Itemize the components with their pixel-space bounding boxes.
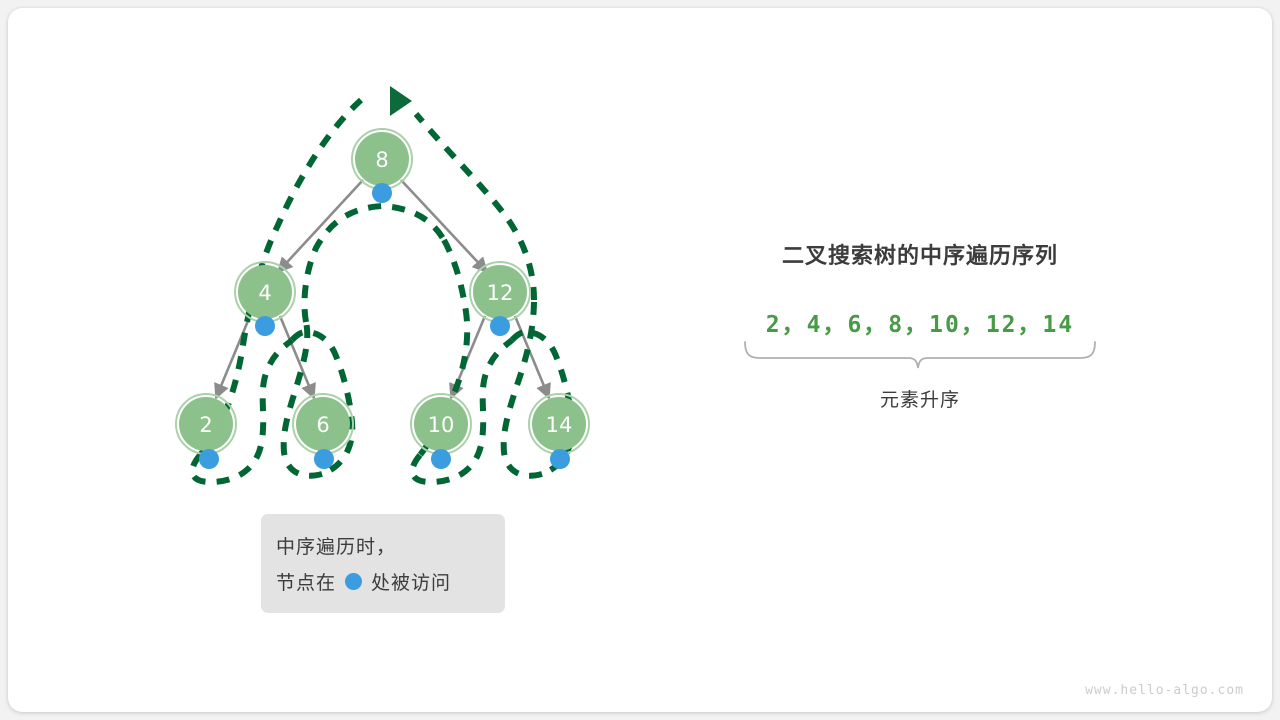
visit-dot-icon xyxy=(314,449,334,469)
tree-nodes: 8 4 12 2 xyxy=(176,129,589,469)
panel-title: 二叉搜索树的中序遍历序列 xyxy=(700,238,1140,270)
node-label: 12 xyxy=(487,281,514,305)
ascending-brace xyxy=(745,342,1095,368)
visit-dot-icon xyxy=(345,573,362,590)
tree-node-6[interactable]: 6 xyxy=(293,394,353,469)
node-label: 2 xyxy=(199,413,212,437)
legend-text-before: 节点在 xyxy=(276,568,336,595)
diagram-canvas: 8 4 12 2 xyxy=(0,0,1280,720)
node-label: 6 xyxy=(316,413,329,437)
tree-node-4[interactable]: 4 xyxy=(235,262,295,336)
node-label: 14 xyxy=(546,413,573,437)
tree-node-8[interactable]: 8 xyxy=(352,129,412,203)
visit-dot-icon xyxy=(255,316,275,336)
node-label: 8 xyxy=(375,148,388,172)
tree-node-14[interactable]: 14 xyxy=(529,394,589,469)
node-label: 10 xyxy=(428,413,455,437)
visit-dot-icon xyxy=(199,449,219,469)
legend-text-after: 处被访问 xyxy=(371,568,451,595)
legend-line-1: 中序遍历时， xyxy=(276,532,396,559)
watermark: www.hello-algo.com xyxy=(1085,683,1244,698)
edge-8-12 xyxy=(401,180,487,272)
traversal-sequence: 2，4，6，8，10，12，14 xyxy=(700,305,1140,339)
path-up-to-root xyxy=(304,206,444,322)
visit-dot-icon xyxy=(431,449,451,469)
play-triangle-icon xyxy=(390,86,412,116)
visit-dot-icon xyxy=(490,316,510,336)
legend-box xyxy=(261,514,505,613)
node-label: 4 xyxy=(258,281,271,305)
edge-8-4 xyxy=(278,180,363,272)
ascending-caption: 元素升序 xyxy=(700,385,1140,412)
visit-dot-icon xyxy=(550,449,570,469)
legend-line-2: 节点在 处被访问 xyxy=(276,568,451,595)
bst-traversal-svg: 8 4 12 2 xyxy=(0,0,1280,720)
tree-node-12[interactable]: 12 xyxy=(470,262,530,336)
visit-dot-icon xyxy=(372,183,392,203)
